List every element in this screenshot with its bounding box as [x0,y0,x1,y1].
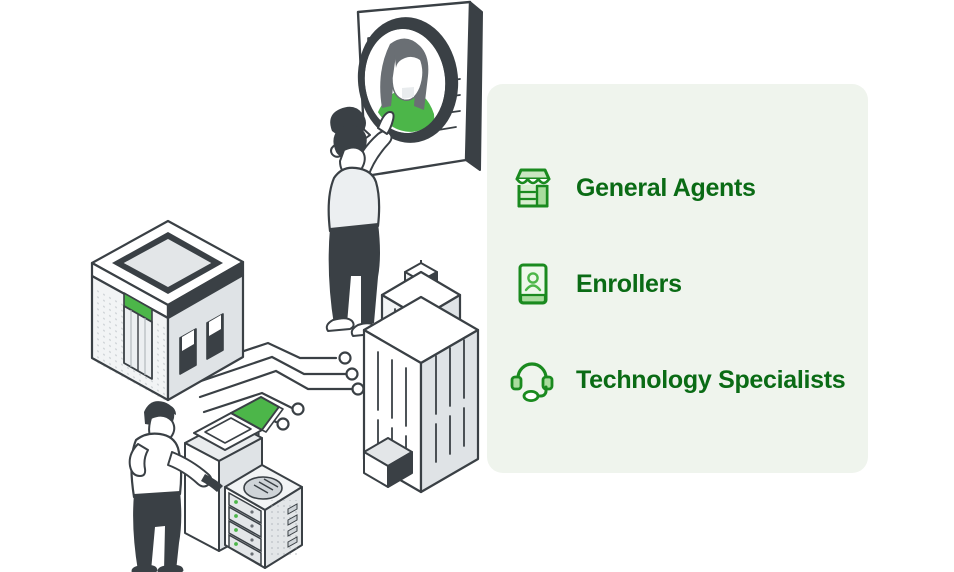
office-tower-building [364,260,478,492]
id-card-person-icon [508,259,558,309]
storefront-icon [508,163,558,213]
headset-icon [508,355,558,405]
feature-item-technology-specialists[interactable]: Technology Specialists [508,352,928,408]
server-rack [225,465,302,568]
feature-label-technology-specialists: Technology Specialists [576,368,845,393]
feature-label-enrollers: Enrollers [576,272,682,297]
illustration-canvas: General Agents Enrollers [0,0,954,572]
feature-list: General Agents Enrollers [508,160,928,408]
feature-item-general-agents[interactable]: General Agents [508,160,928,216]
feature-item-enrollers[interactable]: Enrollers [508,256,928,312]
feature-label-general-agents: General Agents [576,176,756,201]
